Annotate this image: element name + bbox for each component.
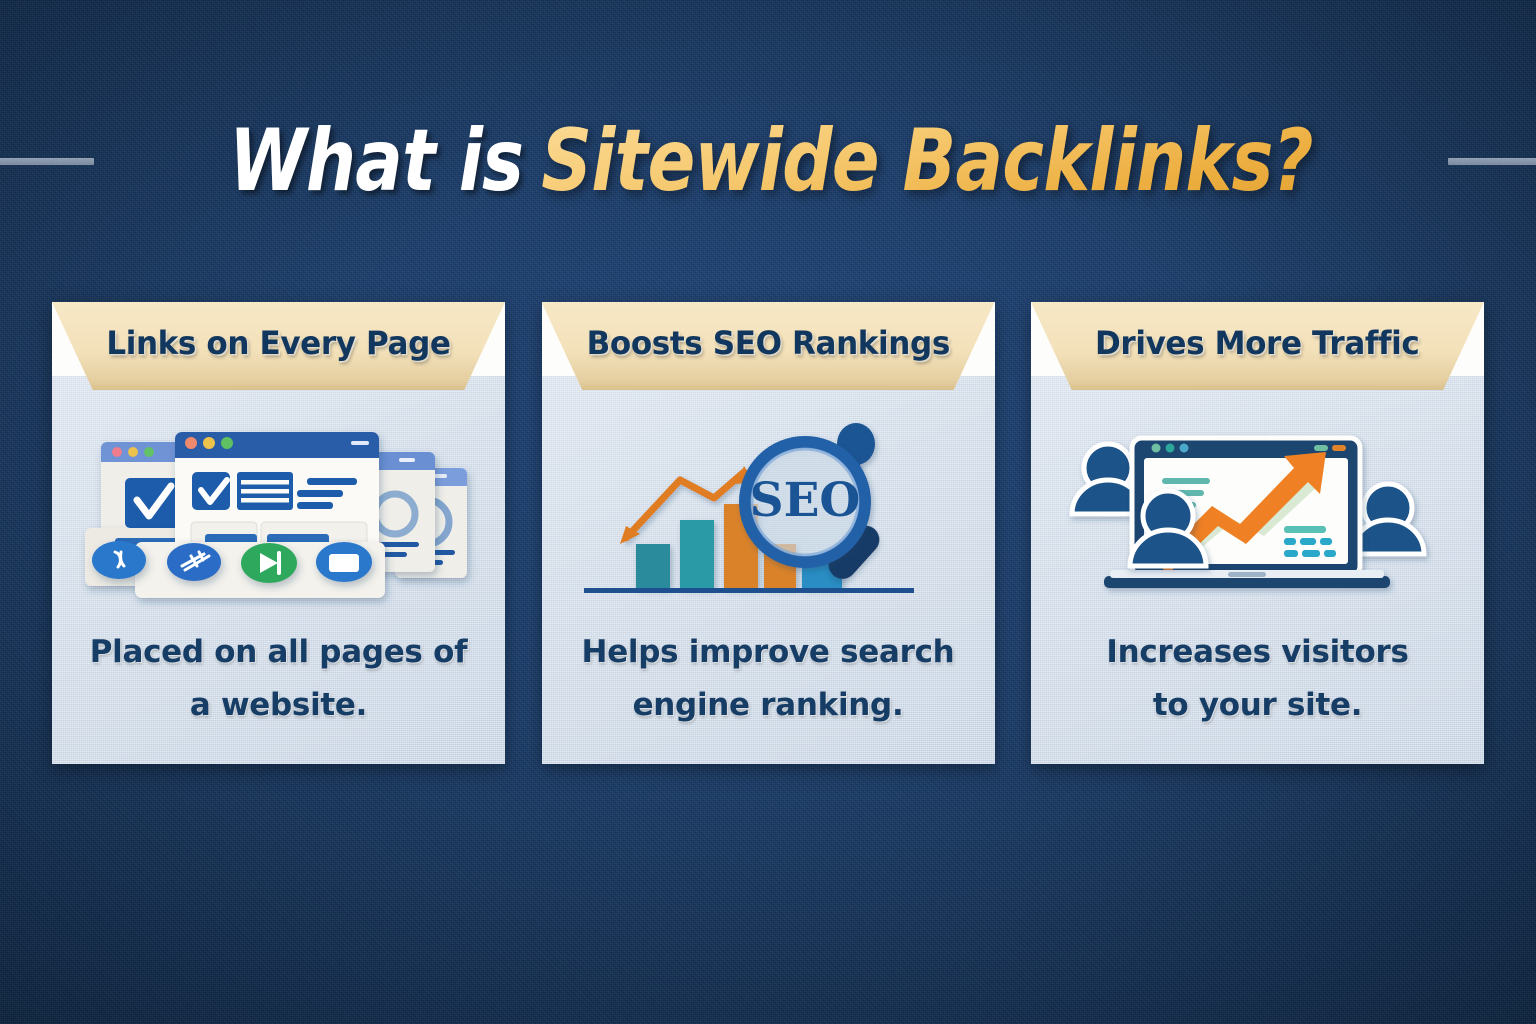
card-ribbon: Drives More Traffic [1031, 302, 1484, 390]
card-description: Helps improve search engine ranking. [542, 626, 995, 731]
page-title: What isSitewide Backlinks? [229, 118, 1313, 204]
card-desc-line1: Helps improve search [542, 626, 995, 679]
card-boosts-seo-rankings[interactable]: Boosts SEO Rankings [542, 302, 995, 764]
card-desc-line2: a website. [52, 679, 505, 732]
laptop-growth-arrow-audience-icon [1031, 410, 1484, 610]
card-desc-line2: engine ranking. [542, 679, 995, 732]
card-desc-line2: to your site. [1031, 679, 1484, 732]
card-heading: Links on Every Page [106, 324, 450, 362]
card-description: Increases visitors to your site. [1031, 626, 1484, 731]
card-grid: Links on Every Page [52, 302, 1484, 764]
card-ribbon: Links on Every Page [52, 302, 505, 390]
card-heading: Drives More Traffic [1095, 324, 1419, 362]
card-desc-line1: Placed on all pages of [52, 626, 505, 679]
card-drives-more-traffic[interactable]: Drives More Traffic [1031, 302, 1484, 764]
page-title-white: What is [229, 111, 523, 211]
card-description: Placed on all pages of a website. [52, 626, 505, 731]
infographic-poster: What isSitewide Backlinks? Links on Ever… [0, 0, 1536, 1024]
page-title-gold: Sitewide Backlinks? [541, 111, 1312, 211]
title-divider-left [0, 158, 94, 165]
card-ribbon: Boosts SEO Rankings [542, 302, 995, 390]
title-divider-right [1448, 158, 1536, 165]
title-row: What isSitewide Backlinks? [0, 118, 1536, 204]
stacked-browser-windows-icon [52, 410, 505, 610]
svg-text:SEO: SEO [750, 473, 861, 528]
card-links-on-every-page[interactable]: Links on Every Page [52, 302, 505, 764]
card-heading: Boosts SEO Rankings [586, 324, 949, 362]
card-desc-line1: Increases visitors [1031, 626, 1484, 679]
seo-magnifier-bar-chart-icon: SEO [542, 410, 995, 610]
